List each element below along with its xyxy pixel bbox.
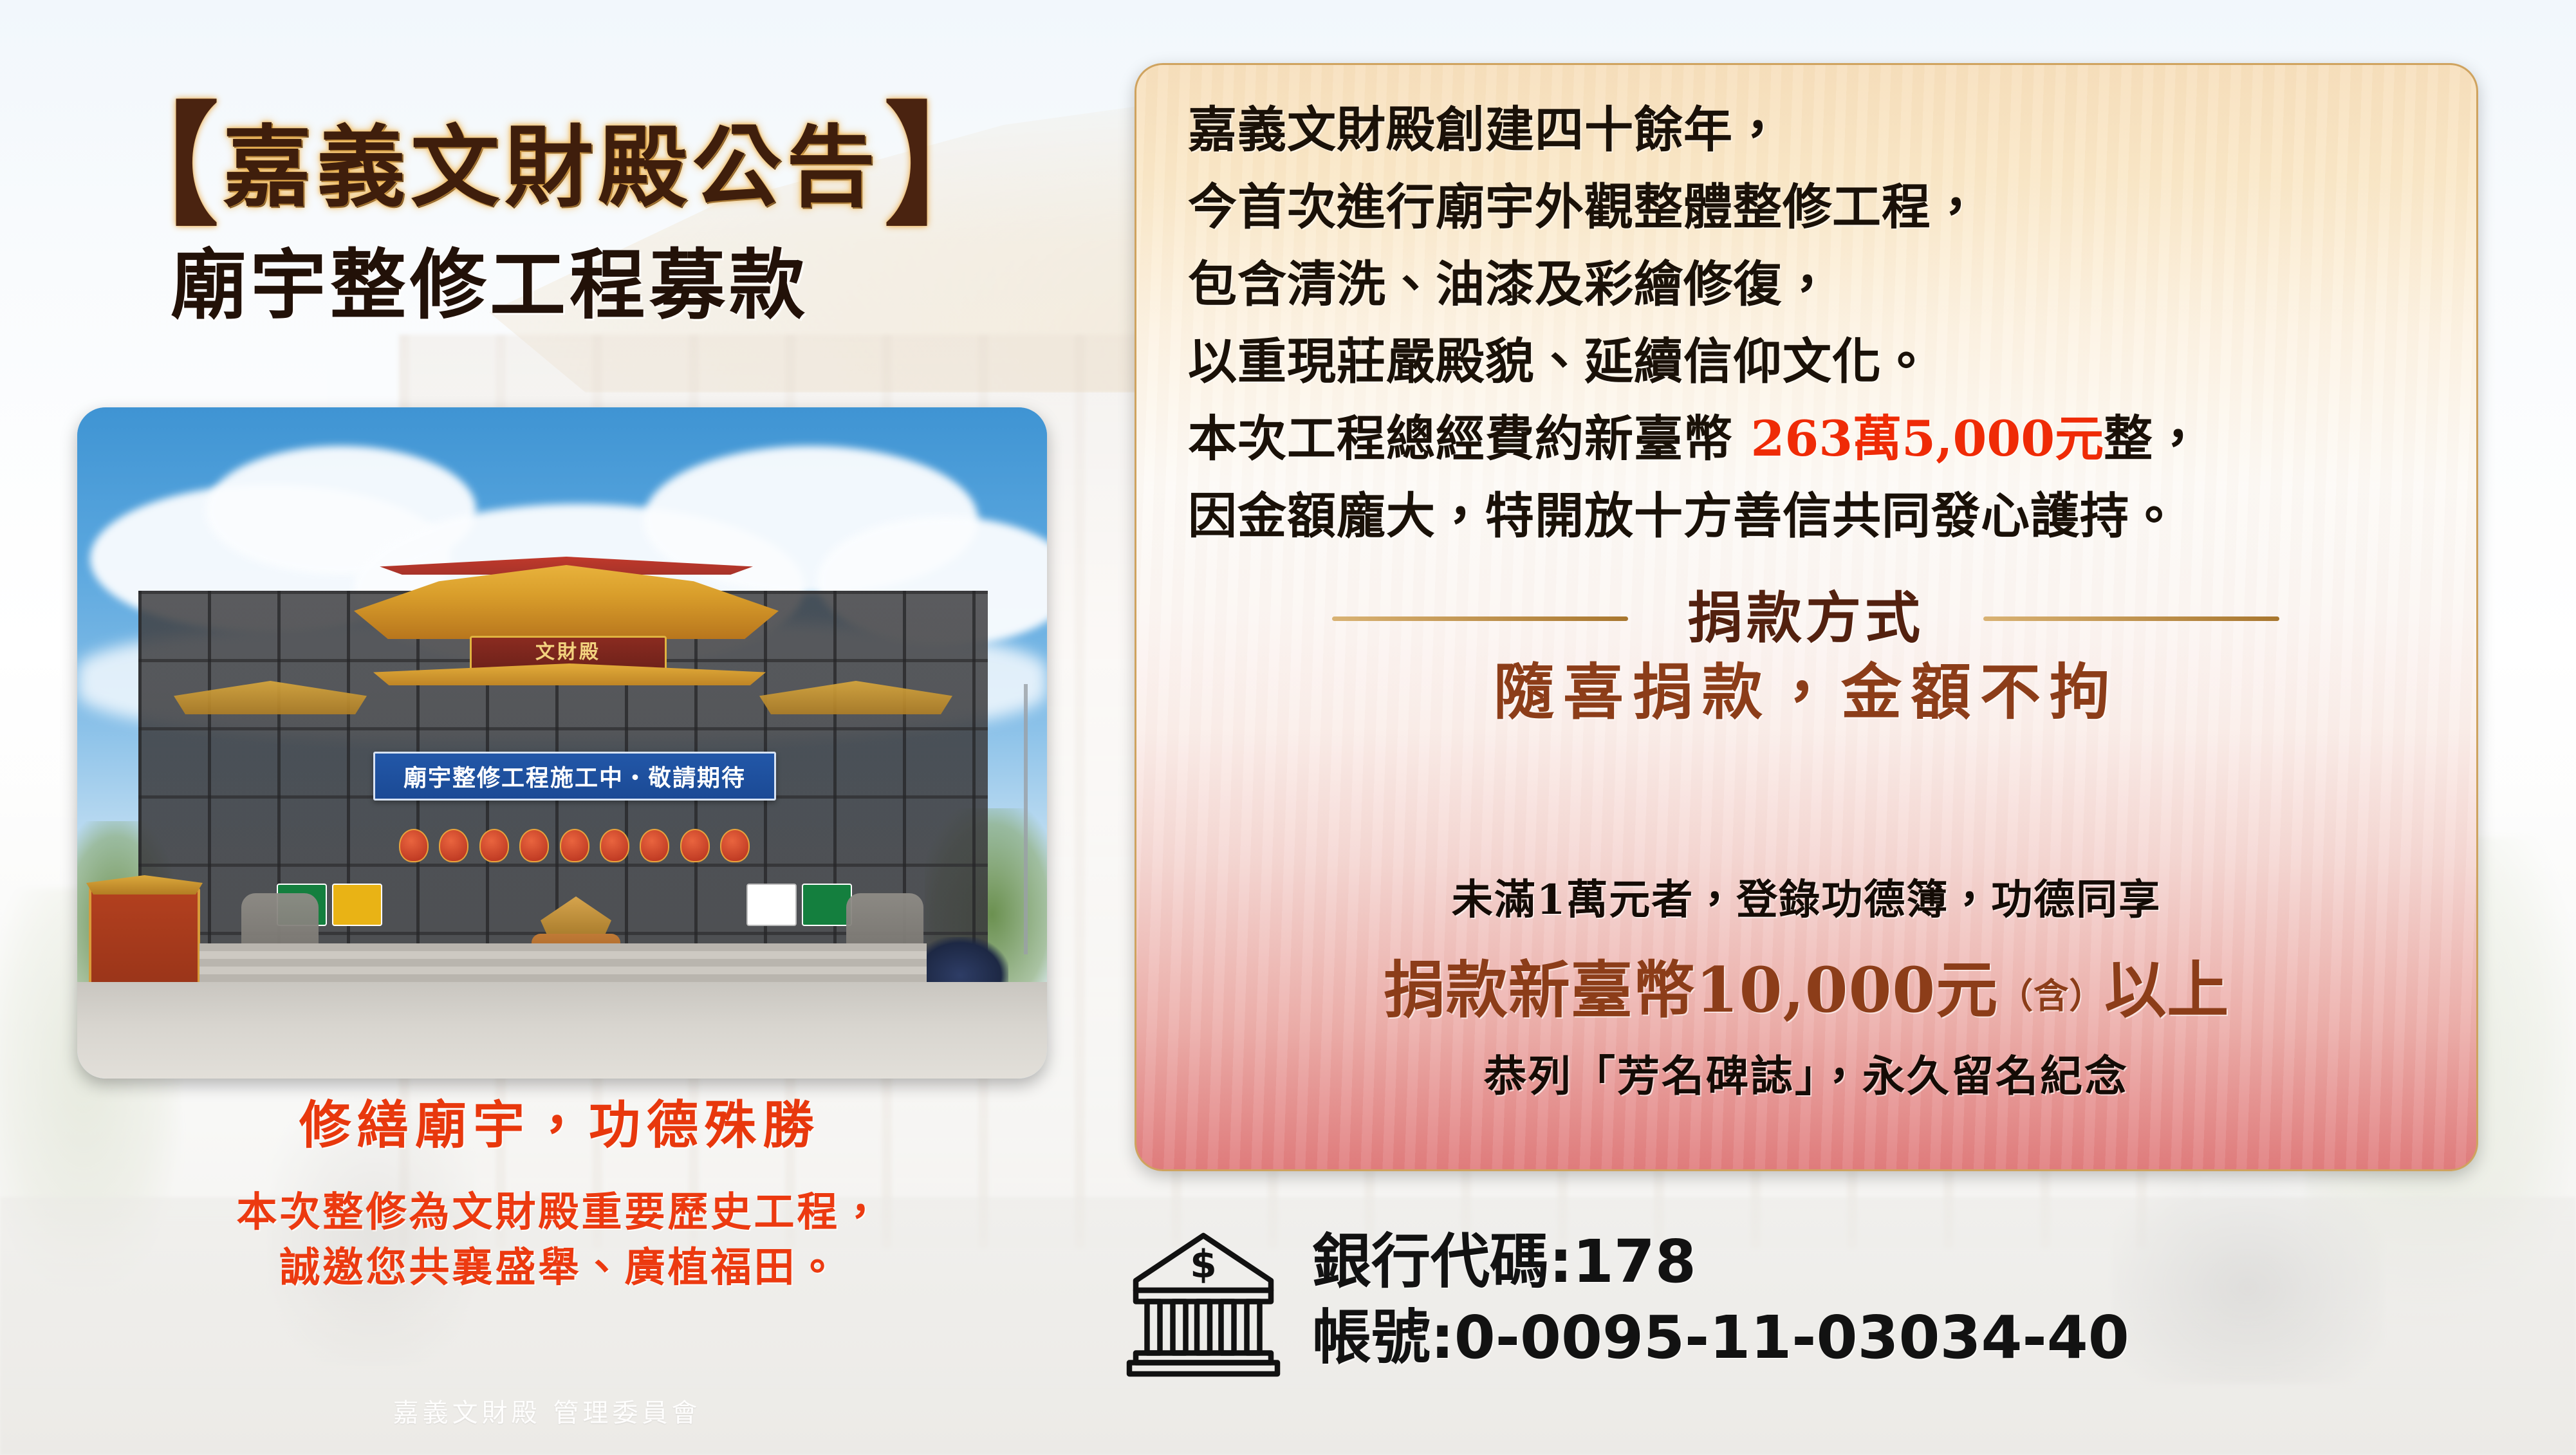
- open-donation-line: 因金額龐大，特開放十方善信共同發心護持。: [1188, 487, 2436, 546]
- invitation-text: 本次整修為文財殿重要歷史工程， 誠邀您共襄盛舉、廣植福田。: [71, 1184, 1049, 1295]
- safety-sign-no-smoking: [746, 884, 797, 926]
- free-amount-text: 隨喜捐款，金額不拘: [1136, 657, 2476, 728]
- invitation-line-2: 誠邀您共襄盛舉、廣植福田。: [71, 1239, 1049, 1295]
- temple-photo-card: 文財殿 廟宇整修工程施工中‧敬請期待: [77, 407, 1047, 1079]
- bank-text-lines: 銀行代碼:178 帳號:0-0095-11-03034-40: [1312, 1224, 2129, 1376]
- donate-method-title: 捐款方式: [1687, 586, 1924, 651]
- censer-lid: [541, 896, 611, 936]
- construction-banner: 廟宇整修工程施工中‧敬請期待: [373, 752, 776, 801]
- stele-listing-text: 恭列「芳名碑誌」，永久留名紀念: [1136, 1050, 2476, 1102]
- page-title-text: 嘉義文財殿公告: [223, 119, 880, 216]
- bracket-right-glyph: 】: [884, 115, 1006, 219]
- lantern-icon: [560, 829, 589, 862]
- safety-sign-yellow: [332, 884, 382, 926]
- over-10k-main: 捐款新臺幣10,000元: [1384, 954, 1998, 1026]
- budget-suffix: 整，: [2104, 410, 2203, 467]
- bank-code-line: 銀行代碼:178: [1312, 1224, 2129, 1300]
- lantern-icon: [439, 829, 468, 862]
- over-10k-tail: 以上: [2104, 954, 2229, 1026]
- announcement-card: 嘉義文財殿創建四十餘年， 今首次進行廟宇外觀整體整修工程， 包含清洗、油漆及彩繪…: [1135, 63, 2478, 1171]
- lantern-icon: [519, 829, 549, 862]
- lantern-icon: [640, 829, 669, 862]
- budget-prefix: 本次工程總經費約新臺幣: [1188, 410, 1750, 467]
- budget-amount: 263萬5,000元: [1750, 410, 2104, 467]
- divider-line-right: [1983, 616, 2279, 621]
- page-subtitle: 廟宇整修工程募款: [171, 245, 1071, 326]
- svg-text:$: $: [1190, 1242, 1217, 1287]
- divider-line-left: [1332, 616, 1628, 621]
- bank-account-line: 帳號:0-0095-11-03034-40: [1312, 1300, 2129, 1376]
- donate-section-divider: 捐款方式: [1175, 583, 2436, 654]
- bank-building-dollar-icon: $: [1123, 1219, 1284, 1380]
- organization-footer: 嘉義文財殿 管理委員會: [0, 1396, 1094, 1430]
- invitation-line-1: 本次整修為文財殿重要歷史工程，: [71, 1184, 1049, 1239]
- intro-line-3: 包含清洗、油漆及彩繪修復，: [1188, 255, 2436, 314]
- intro-line-4: 以重現莊嚴殿貌、延續信仰文化。: [1188, 332, 2436, 391]
- intro-line-1: 嘉義文財殿創建四十餘年，: [1188, 100, 2436, 160]
- page-title: 【 嘉義文財殿公告 】: [97, 109, 1062, 225]
- lantern-row: [399, 829, 750, 861]
- lantern-icon: [720, 829, 750, 862]
- over-10k-paren: （含）: [1998, 975, 2104, 1016]
- bracket-left-glyph: 【: [97, 115, 219, 219]
- lantern-icon: [600, 829, 629, 862]
- temple-forecourt: [77, 982, 1047, 1079]
- intro-line-2: 今首次進行廟宇外觀整體整修工程，: [1188, 178, 2436, 237]
- under-10k-text: 未滿1萬元者，登錄功德簿，功德同享: [1136, 875, 2476, 926]
- lantern-icon: [399, 829, 429, 862]
- poster-root: 【 嘉義文財殿公告 】 廟宇整修工程募款 文財殿 廟宇整修工程施工中‧敬請期待: [0, 0, 2576, 1455]
- safety-sign-green-right: [802, 884, 852, 926]
- budget-line: 本次工程總經費約新臺幣 263萬5,000元整，: [1188, 409, 2436, 468]
- over-10k-text: 捐款新臺幣10,000元（含）以上: [1136, 953, 2476, 1033]
- bank-account-block: $ 銀行代碼:178 帳號:0-0095-11-03034-40: [1123, 1194, 2539, 1406]
- lantern-icon: [479, 829, 509, 862]
- merit-slogan: 修繕廟宇，功德殊勝: [84, 1094, 1036, 1156]
- utility-pole: [1024, 684, 1028, 954]
- lantern-icon: [680, 829, 710, 862]
